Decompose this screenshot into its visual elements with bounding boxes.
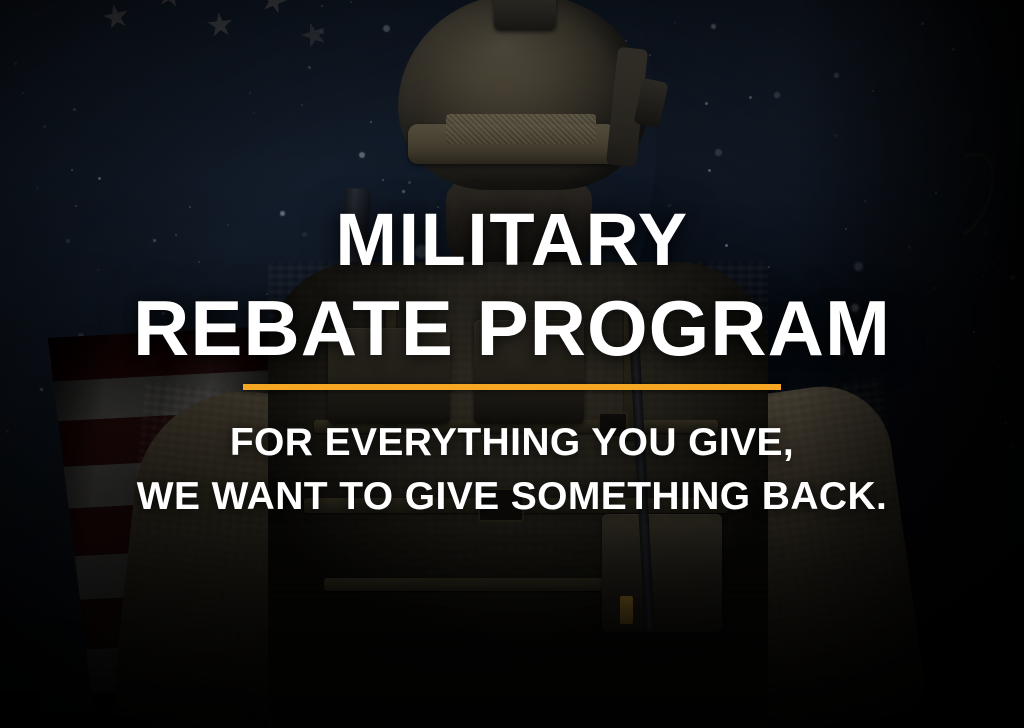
military-rebate-banner: MILITARY REBATE PROGRAM FOR EVERYTHING Y… [0,0,1024,728]
subheadline-line-2: WE WANT TO GIVE SOMETHING BACK. [137,470,888,524]
accent-divider [243,384,781,390]
subheadline-line-1: FOR EVERYTHING YOU GIVE, [230,416,794,470]
headline-line-2: REBATE PROGRAM [133,284,891,372]
banner-content: MILITARY REBATE PROGRAM FOR EVERYTHING Y… [0,0,1024,728]
headline-line-1: MILITARY [335,196,688,284]
